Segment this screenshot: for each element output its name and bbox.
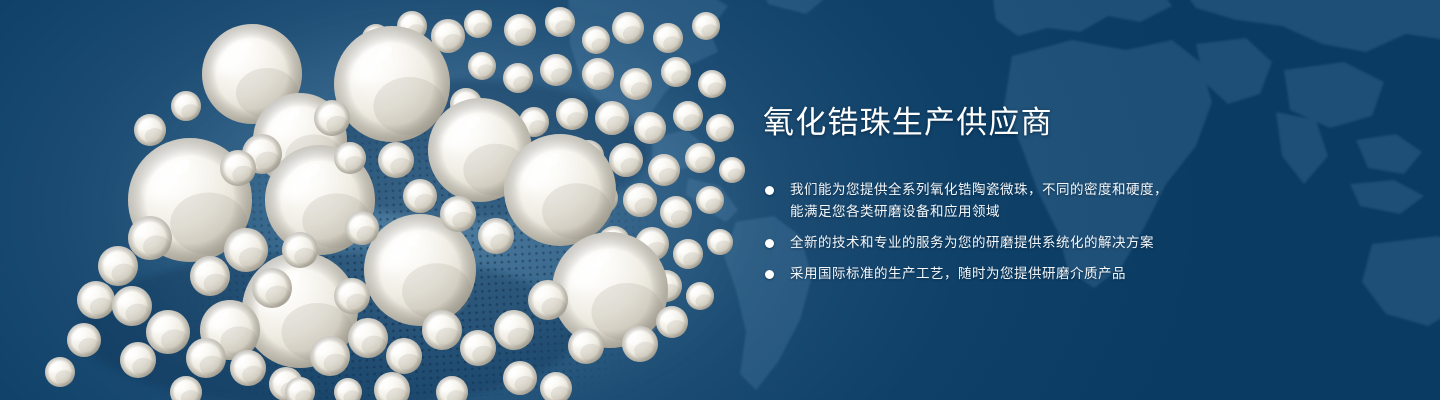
list-item-line: 能满足您各类研磨设备和应用领域 [790,201,1363,223]
zirconia-beads-photo [0,0,760,400]
list-item-line: 采用国际标准的生产工艺，随时为您提供研磨介质产品 [790,263,1363,285]
list-item-line: 全新的技术和专业的服务为您的研磨提供系统化的解决方案 [790,232,1363,254]
promotional-banner: 氧化锆珠生产供应商 我们能为您提供全系列氧化锆陶瓷微珠，不同的密度和硬度， 能满… [0,0,1440,400]
feature-list: 我们能为您提供全系列氧化锆陶瓷微珠，不同的密度和硬度， 能满足您各类研磨设备和应… [763,179,1363,285]
list-item: 采用国际标准的生产工艺，随时为您提供研磨介质产品 [763,263,1363,285]
bullet-dot-icon [765,186,774,195]
list-item: 我们能为您提供全系列氧化锆陶瓷微珠，不同的密度和硬度， 能满足您各类研磨设备和应… [763,179,1363,223]
banner-copy: 氧化锆珠生产供应商 我们能为您提供全系列氧化锆陶瓷微珠，不同的密度和硬度， 能满… [763,104,1363,285]
page-title: 氧化锆珠生产供应商 [763,104,1363,141]
bullet-dot-icon [765,270,774,279]
list-item: 全新的技术和专业的服务为您的研磨提供系统化的解决方案 [763,232,1363,254]
list-item-line: 我们能为您提供全系列氧化锆陶瓷微珠，不同的密度和硬度， [790,179,1363,201]
bullet-dot-icon [765,239,774,248]
